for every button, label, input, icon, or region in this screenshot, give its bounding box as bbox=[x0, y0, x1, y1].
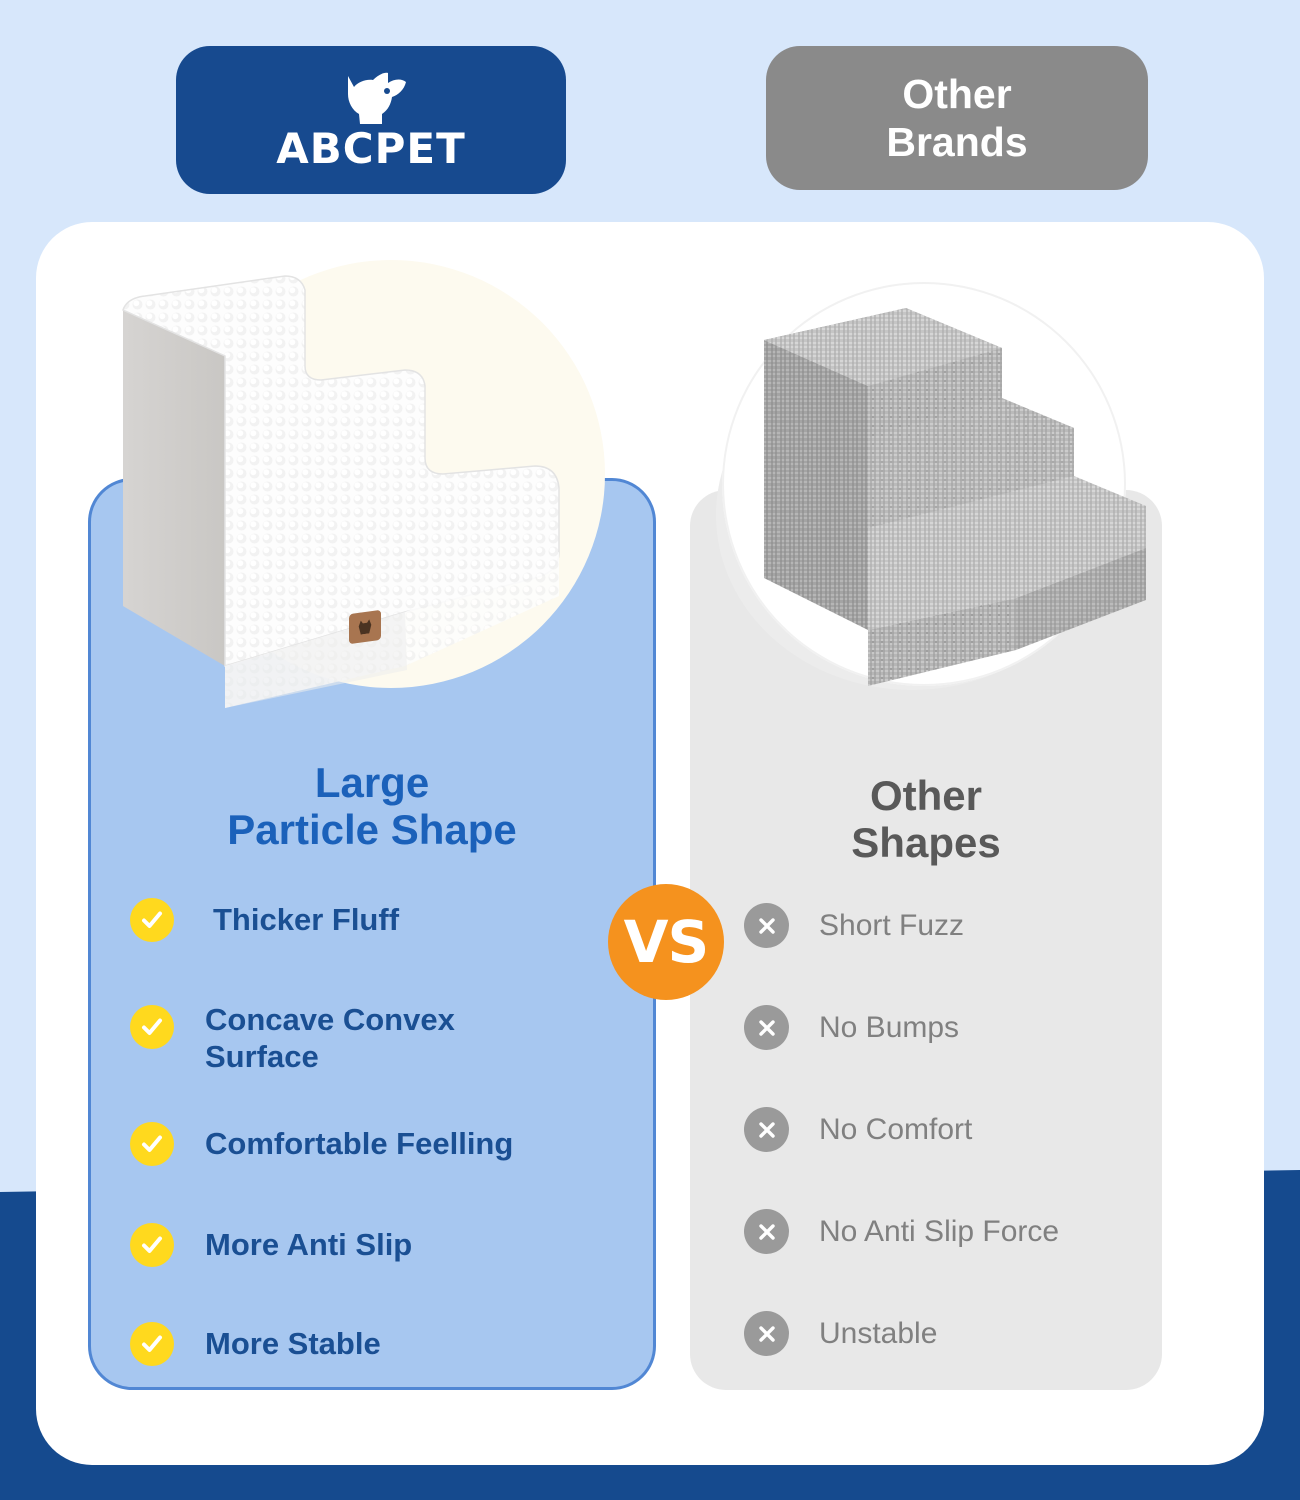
panel-title-left-line1: Large bbox=[315, 759, 429, 806]
panel-title-left-line2: Particle Shape bbox=[227, 806, 516, 853]
check-icon bbox=[130, 1322, 174, 1366]
panel-title-left: Large Particle Shape bbox=[91, 759, 653, 853]
x-icon bbox=[744, 1311, 789, 1356]
x-icon bbox=[744, 1005, 789, 1050]
check-icon bbox=[130, 1005, 174, 1049]
feature-label: Unstable bbox=[819, 1316, 937, 1352]
other-brands-line1: Other bbox=[902, 70, 1011, 118]
feature-label: Short Fuzz bbox=[819, 908, 964, 944]
other-brands-badge: Other Brands bbox=[766, 46, 1148, 190]
x-icon bbox=[744, 1107, 789, 1152]
feature-label: More Stable bbox=[205, 1325, 381, 1362]
other-brands-line2: Brands bbox=[886, 118, 1027, 166]
panel-title-right-line2: Shapes bbox=[851, 819, 1000, 866]
feature-row-short-fuzz: Short Fuzz bbox=[744, 903, 1174, 948]
feature-row-no-anti-slip-force: No Anti Slip Force bbox=[744, 1209, 1174, 1254]
check-icon bbox=[130, 1122, 174, 1166]
feature-row-concave-convex-surface: Concave Convex Surface bbox=[130, 1001, 600, 1075]
x-icon bbox=[744, 1209, 789, 1254]
product-image-other-brand bbox=[716, 278, 1164, 698]
pet-stairs-white-illustration bbox=[105, 246, 605, 716]
feature-label: No Anti Slip Force bbox=[819, 1214, 1059, 1250]
vs-badge: VS bbox=[608, 884, 724, 1000]
feature-label: Thicker Fluff bbox=[213, 901, 399, 938]
brand-name: ABCPET bbox=[276, 128, 465, 170]
feature-row-no-bumps: No Bumps bbox=[744, 1005, 1174, 1050]
vs-label: VS bbox=[624, 908, 709, 976]
infographic-root: ABCPET Other Brands Large Particle Shape… bbox=[0, 0, 1300, 1500]
feature-row-comfortable-feelling: Comfortable Feelling bbox=[130, 1122, 600, 1166]
feature-label: No Bumps bbox=[819, 1010, 959, 1046]
check-icon bbox=[130, 898, 174, 942]
feature-label: More Anti Slip bbox=[205, 1226, 412, 1263]
feature-row-more-stable: More Stable bbox=[130, 1322, 600, 1366]
brand-badge: ABCPET bbox=[176, 46, 566, 194]
panel-title-right-line1: Other bbox=[870, 772, 982, 819]
dog-head-icon bbox=[328, 70, 414, 126]
pet-stairs-gray-illustration bbox=[716, 278, 1164, 698]
feature-row-thicker-fluff: Thicker Fluff bbox=[130, 898, 600, 942]
panel-title-right: Other Shapes bbox=[690, 772, 1162, 866]
check-icon bbox=[130, 1223, 174, 1267]
product-image-abcpet bbox=[105, 246, 605, 716]
header-badges: ABCPET Other Brands bbox=[0, 46, 1300, 196]
feature-row-unstable: Unstable bbox=[744, 1311, 1174, 1356]
feature-row-more-anti-slip: More Anti Slip bbox=[130, 1223, 600, 1267]
feature-label: Comfortable Feelling bbox=[205, 1125, 513, 1162]
brand-leather-tag bbox=[349, 610, 381, 644]
feature-row-no-comfort: No Comfort bbox=[744, 1107, 1174, 1152]
x-icon bbox=[744, 903, 789, 948]
feature-label: No Comfort bbox=[819, 1112, 972, 1148]
feature-label: Concave Convex Surface bbox=[205, 1001, 455, 1075]
